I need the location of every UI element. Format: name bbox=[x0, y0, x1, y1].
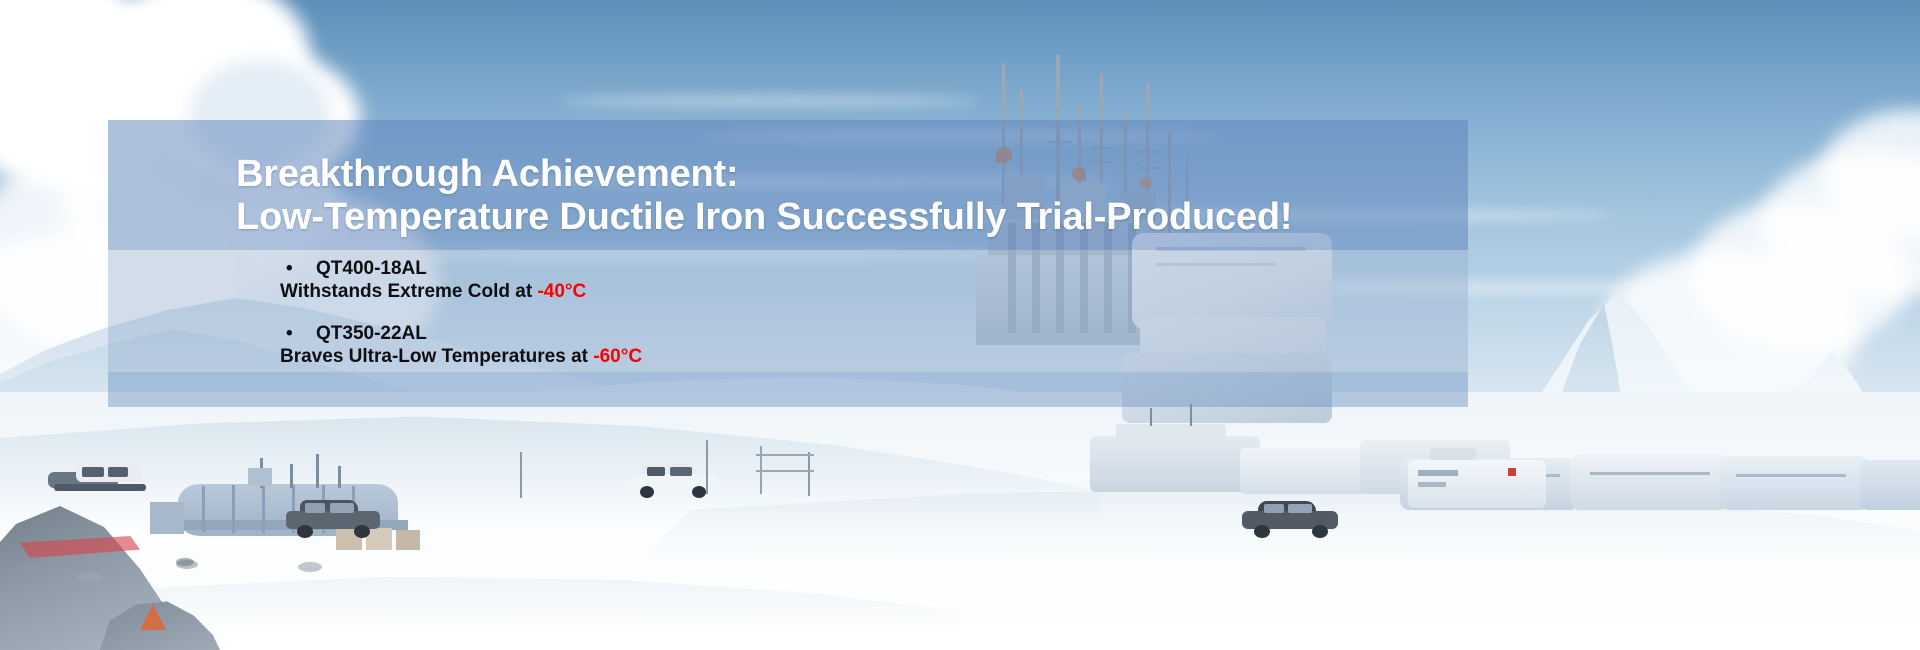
bullet-temperature-qt350: -60°C bbox=[593, 346, 642, 367]
bullet-head-qt350: •QT350-22AL bbox=[280, 323, 1280, 344]
bullet-item-qt350: •QT350-22AL Braves Ultra-Low Temperature… bbox=[280, 323, 1280, 368]
fence-rail bbox=[756, 454, 814, 456]
headline: Breakthrough Achievement: Low-Temperatur… bbox=[236, 155, 1476, 236]
car-vehicle-bottom-right bbox=[1242, 498, 1340, 538]
snow-vehicle-left bbox=[48, 462, 158, 494]
storage-module bbox=[1408, 452, 1548, 516]
cirrus-streak bbox=[560, 96, 980, 106]
bullet-item-qt400: •QT400-18AL Withstands Extreme Cold at -… bbox=[280, 258, 1280, 303]
bullet-marker-icon: • bbox=[286, 258, 316, 279]
marker-pole bbox=[706, 440, 708, 494]
marker-pole bbox=[808, 452, 810, 496]
bullet-grade-qt400: QT400-18AL bbox=[316, 258, 427, 279]
snow-debris bbox=[76, 572, 102, 582]
snow-debris bbox=[12, 564, 42, 576]
bullet-list: •QT400-18AL Withstands Extreme Cold at -… bbox=[280, 258, 1280, 367]
marker-pole bbox=[520, 452, 522, 498]
bullet-description-qt350: Braves Ultra-Low Temperatures at bbox=[280, 346, 588, 367]
suv-vehicle-center bbox=[630, 462, 718, 498]
snow-debris bbox=[176, 558, 194, 566]
bullet-marker-icon: • bbox=[286, 323, 316, 344]
bullet-head-qt400: •QT400-18AL bbox=[280, 258, 1280, 279]
suv-vehicle-bottom-left bbox=[286, 498, 382, 538]
bullet-grade-qt350: QT350-22AL bbox=[316, 323, 427, 344]
headline-line-1: Breakthrough Achievement: bbox=[236, 155, 1476, 193]
bullet-description-qt400: Withstands Extreme Cold at bbox=[280, 281, 532, 302]
headline-line-2: Low-Temperature Ductile Iron Successfull… bbox=[236, 198, 1476, 236]
bullet-sub-qt400: Withstands Extreme Cold at -40°C bbox=[280, 281, 1280, 302]
promo-banner: Breakthrough Achievement: Low-Temperatur… bbox=[0, 0, 1920, 650]
bullet-temperature-qt400: -40°C bbox=[537, 281, 586, 302]
fence-rail bbox=[756, 470, 814, 472]
snow-debris bbox=[298, 562, 322, 572]
bullet-sub-qt350: Braves Ultra-Low Temperatures at -60°C bbox=[280, 346, 1280, 367]
